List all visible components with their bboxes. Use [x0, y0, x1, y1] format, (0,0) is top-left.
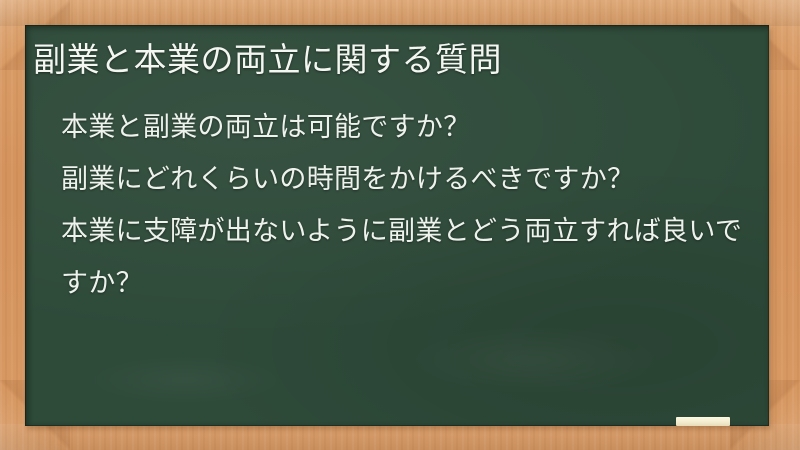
- question-item: 副業にどれくらいの時間をかけるべきですか？: [33, 153, 747, 205]
- frame-rail-bottom: [0, 424, 800, 450]
- question-list: 本業と副業の両立は可能ですか？ 副業にどれくらいの時間をかけるべきですか？ 本業…: [33, 101, 747, 309]
- chalkboard-surface: 副業と本業の両立に関する質問 本業と副業の両立は可能ですか？ 副業にどれくらいの…: [25, 25, 769, 426]
- chalk-stick-icon: [676, 417, 730, 426]
- frame-rail-top: [0, 0, 800, 26]
- board-title: 副業と本業の両立に関する質問: [33, 39, 761, 81]
- chalk-smudge: [405, 325, 665, 395]
- chalk-smudge: [85, 355, 285, 405]
- chalkboard-slide: 副業と本業の両立に関する質問 本業と副業の両立は可能ですか？ 副業にどれくらいの…: [0, 0, 800, 450]
- question-item: 本業に支障が出ないように副業とどう両立すれば良いですか？: [33, 205, 747, 309]
- question-item: 本業と副業の両立は可能ですか？: [33, 101, 747, 153]
